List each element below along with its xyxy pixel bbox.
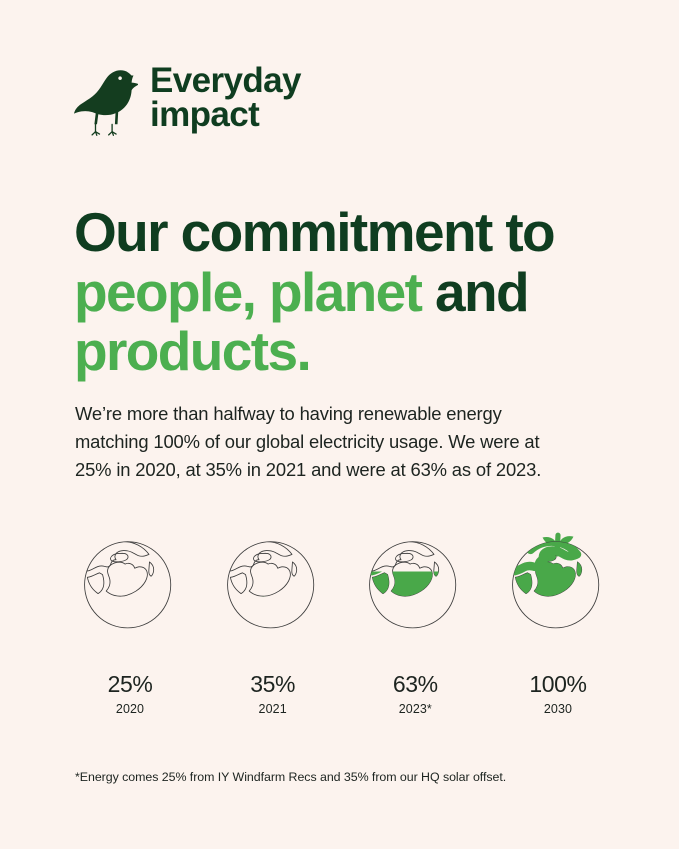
globe-stat-2023: 63% 2023*	[351, 507, 479, 716]
logo-line-1: Everyday	[150, 64, 301, 98]
globe-sprout-icon	[499, 507, 617, 657]
headline-part-1: Our commitment to	[74, 201, 554, 263]
globe-year-label: 2021	[259, 703, 287, 716]
globe-outline	[85, 541, 171, 627]
globe-fill-level	[229, 541, 296, 596]
globe-percent-label: 25%	[108, 673, 153, 696]
bird-icon	[74, 66, 138, 138]
globe-continents	[515, 541, 582, 596]
intro-paragraph: We’re more than halfway to having renewa…	[75, 400, 561, 484]
globe-stat-2021: 35% 2021	[209, 507, 337, 716]
globe-continents	[87, 541, 154, 596]
globe-percent-label: 100%	[529, 673, 586, 696]
logo-wordmark: Everyday impact	[150, 64, 301, 131]
page-title: Our commitment to people, planet and pro…	[74, 203, 614, 382]
globe-icon	[214, 507, 332, 657]
logo-line-2: impact	[150, 98, 301, 132]
globe-icon	[356, 507, 474, 657]
globe-percent-label: 63%	[393, 673, 438, 696]
headline-part-2: and	[421, 261, 528, 323]
headline-accent-1: people, planet	[74, 261, 421, 323]
globe-year-label: 2020	[116, 703, 144, 716]
progress-globes: 25% 2020	[66, 500, 622, 715]
globe-outline	[227, 541, 313, 627]
globe-continents	[229, 541, 296, 596]
globe-fill-level	[87, 541, 154, 596]
brand-logo: Everyday impact	[74, 64, 301, 138]
infographic-page: Everyday impact Our commitment to people…	[0, 0, 679, 849]
globe-icon	[71, 507, 189, 657]
globe-fill-level	[515, 541, 582, 596]
headline-accent-2: products.	[74, 320, 310, 382]
globe-fill-level	[372, 541, 439, 596]
globe-year-label: 2023*	[399, 703, 432, 716]
globe-continents	[372, 541, 439, 596]
globe-stat-2030: 100% 2030	[494, 507, 622, 716]
globe-percent-label: 35%	[250, 673, 295, 696]
globe-year-label: 2030	[544, 703, 572, 716]
globe-stat-2020: 25% 2020	[66, 507, 194, 716]
footnote: *Energy comes 25% from IY Windfarm Recs …	[75, 770, 605, 784]
